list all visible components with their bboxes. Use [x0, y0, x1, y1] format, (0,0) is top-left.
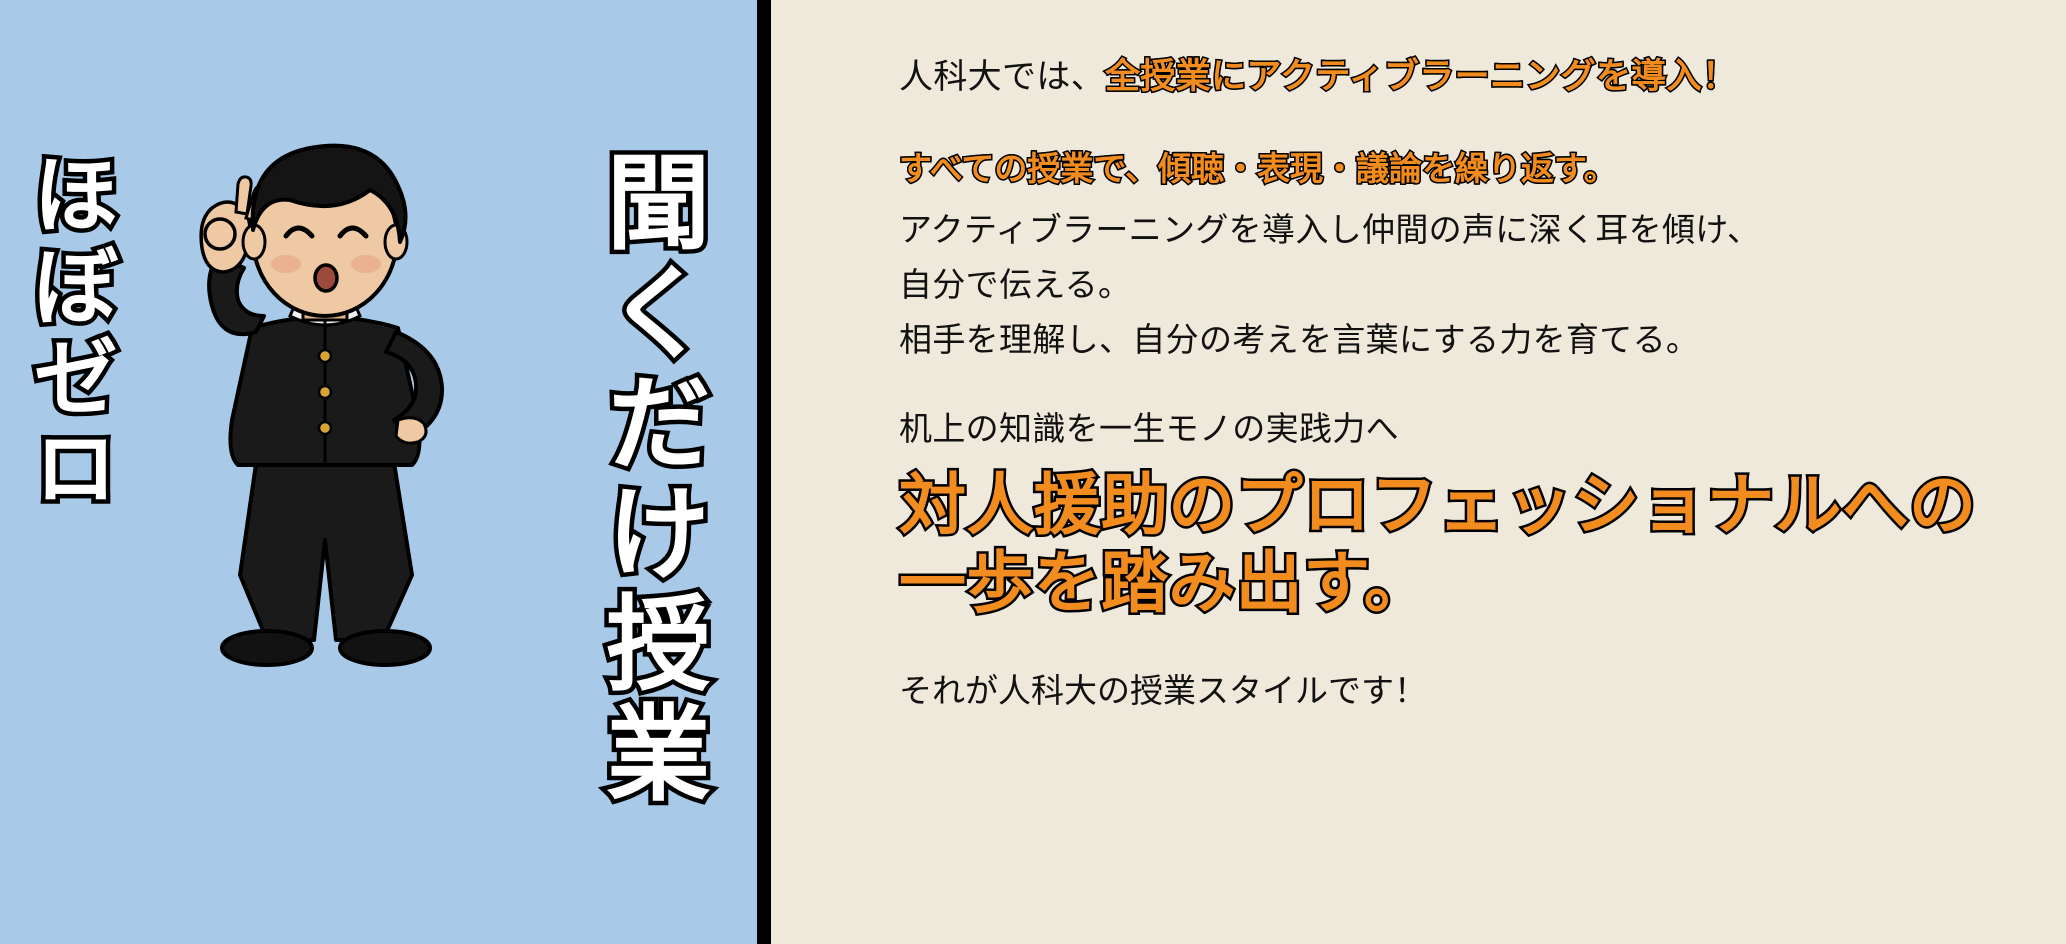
student-illustration — [140, 120, 510, 680]
blush-right — [351, 255, 381, 273]
spacer-two — [899, 456, 2026, 466]
mouth — [315, 265, 337, 291]
section-one-body-line-1: アクティブラーニングを導入し仲間の声に深く耳を傾け、 — [899, 202, 2026, 257]
poster-root: ほぼゼロ — [0, 0, 2066, 944]
uniform-button-3 — [319, 422, 331, 434]
vertical-headline-hobozero: ほぼゼロ — [22, 150, 112, 515]
vertical-headline-kikudake: 聞くだけ授業 — [594, 148, 703, 809]
lead-emphasis: 全授業にアクティブラーニングを導入！ — [1105, 57, 1737, 97]
section-one-body-line-2: 自分で伝える。 — [899, 257, 2026, 312]
section-one-body-line-3: 相手を理解し、自分の考えを言葉にする力を育てる。 — [899, 312, 2026, 367]
spacer-three — [899, 622, 2026, 666]
section-two-headline-line-1: 対人援助のプロフェッショナルへの — [899, 466, 2026, 544]
blush-left — [271, 255, 301, 273]
section-two-kicker: 机上の知識を一生モノの実践力へ — [899, 401, 2026, 456]
section-two-headline-line-2: 一歩を踏み出す。 — [899, 544, 2026, 622]
spacer-one — [899, 367, 2026, 401]
right-text-panel: 人科大では、全授業にアクティブラーニングを導入！ すべての授業で、傾聴・表現・議… — [757, 0, 2066, 944]
left-illustration-panel: ほぼゼロ — [0, 0, 757, 944]
trousers — [240, 450, 412, 640]
shoe-left — [222, 631, 312, 665]
closing-line: それが人科大の授業スタイルです！ — [899, 666, 2026, 716]
lead-plain-prefix: 人科大では、 — [899, 57, 1105, 97]
section-one-headline: すべての授業で、傾聴・表現・議論を繰り返す。 — [899, 144, 2026, 194]
panel-divider — [757, 0, 771, 944]
uniform-button-2 — [319, 386, 331, 398]
lead-line: 人科大では、全授業にアクティブラーニングを導入！ — [899, 52, 2026, 102]
hand-on-hip — [396, 418, 426, 443]
shoe-right — [340, 631, 430, 665]
uniform-button-1 — [319, 350, 331, 362]
